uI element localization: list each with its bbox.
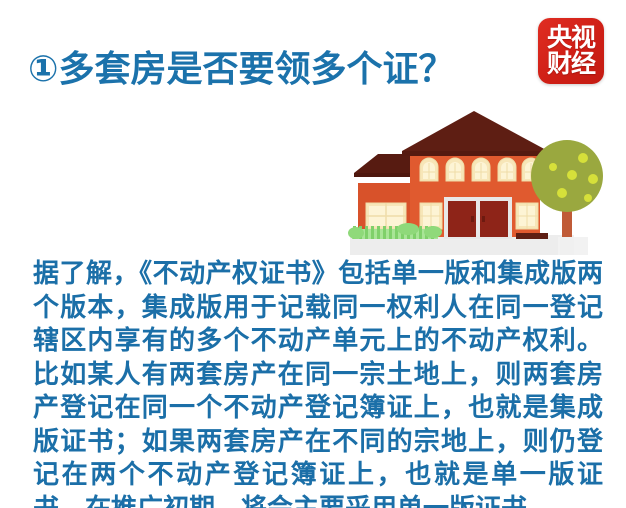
arched-window [446, 158, 464, 181]
tree-fruit [578, 153, 588, 163]
tree-fruit [567, 170, 577, 180]
body-paragraph: 据了解，《不动产权证书》包括单一版和集成版两个版本，集成版用于记载同一权利人在同… [33, 258, 603, 508]
tree-fruit [557, 188, 567, 198]
tree-fruit [584, 194, 592, 202]
lower-window-small-right [516, 203, 538, 229]
fruit-tree [531, 140, 603, 237]
cctv-finance-logo: 央视 财经 [538, 18, 604, 84]
tree-fruit [588, 174, 598, 184]
porch-step [516, 233, 548, 239]
tree-fruit [549, 163, 557, 171]
arched-window [498, 158, 516, 181]
logo-line-1: 央视 [547, 25, 595, 51]
lower-window-small-left [420, 203, 442, 229]
infographic-poster: 央视 财经 ①多套房是否要领多个证？ [0, 0, 626, 508]
arched-window [420, 158, 438, 181]
garage-handle [482, 216, 485, 222]
logo-line-2: 财经 [547, 51, 595, 77]
page-title: ①多套房是否要领多个证？ [28, 48, 454, 92]
garage-handle [471, 216, 474, 222]
house-illustration [340, 95, 626, 255]
garage [444, 197, 512, 239]
arched-window [472, 158, 490, 181]
